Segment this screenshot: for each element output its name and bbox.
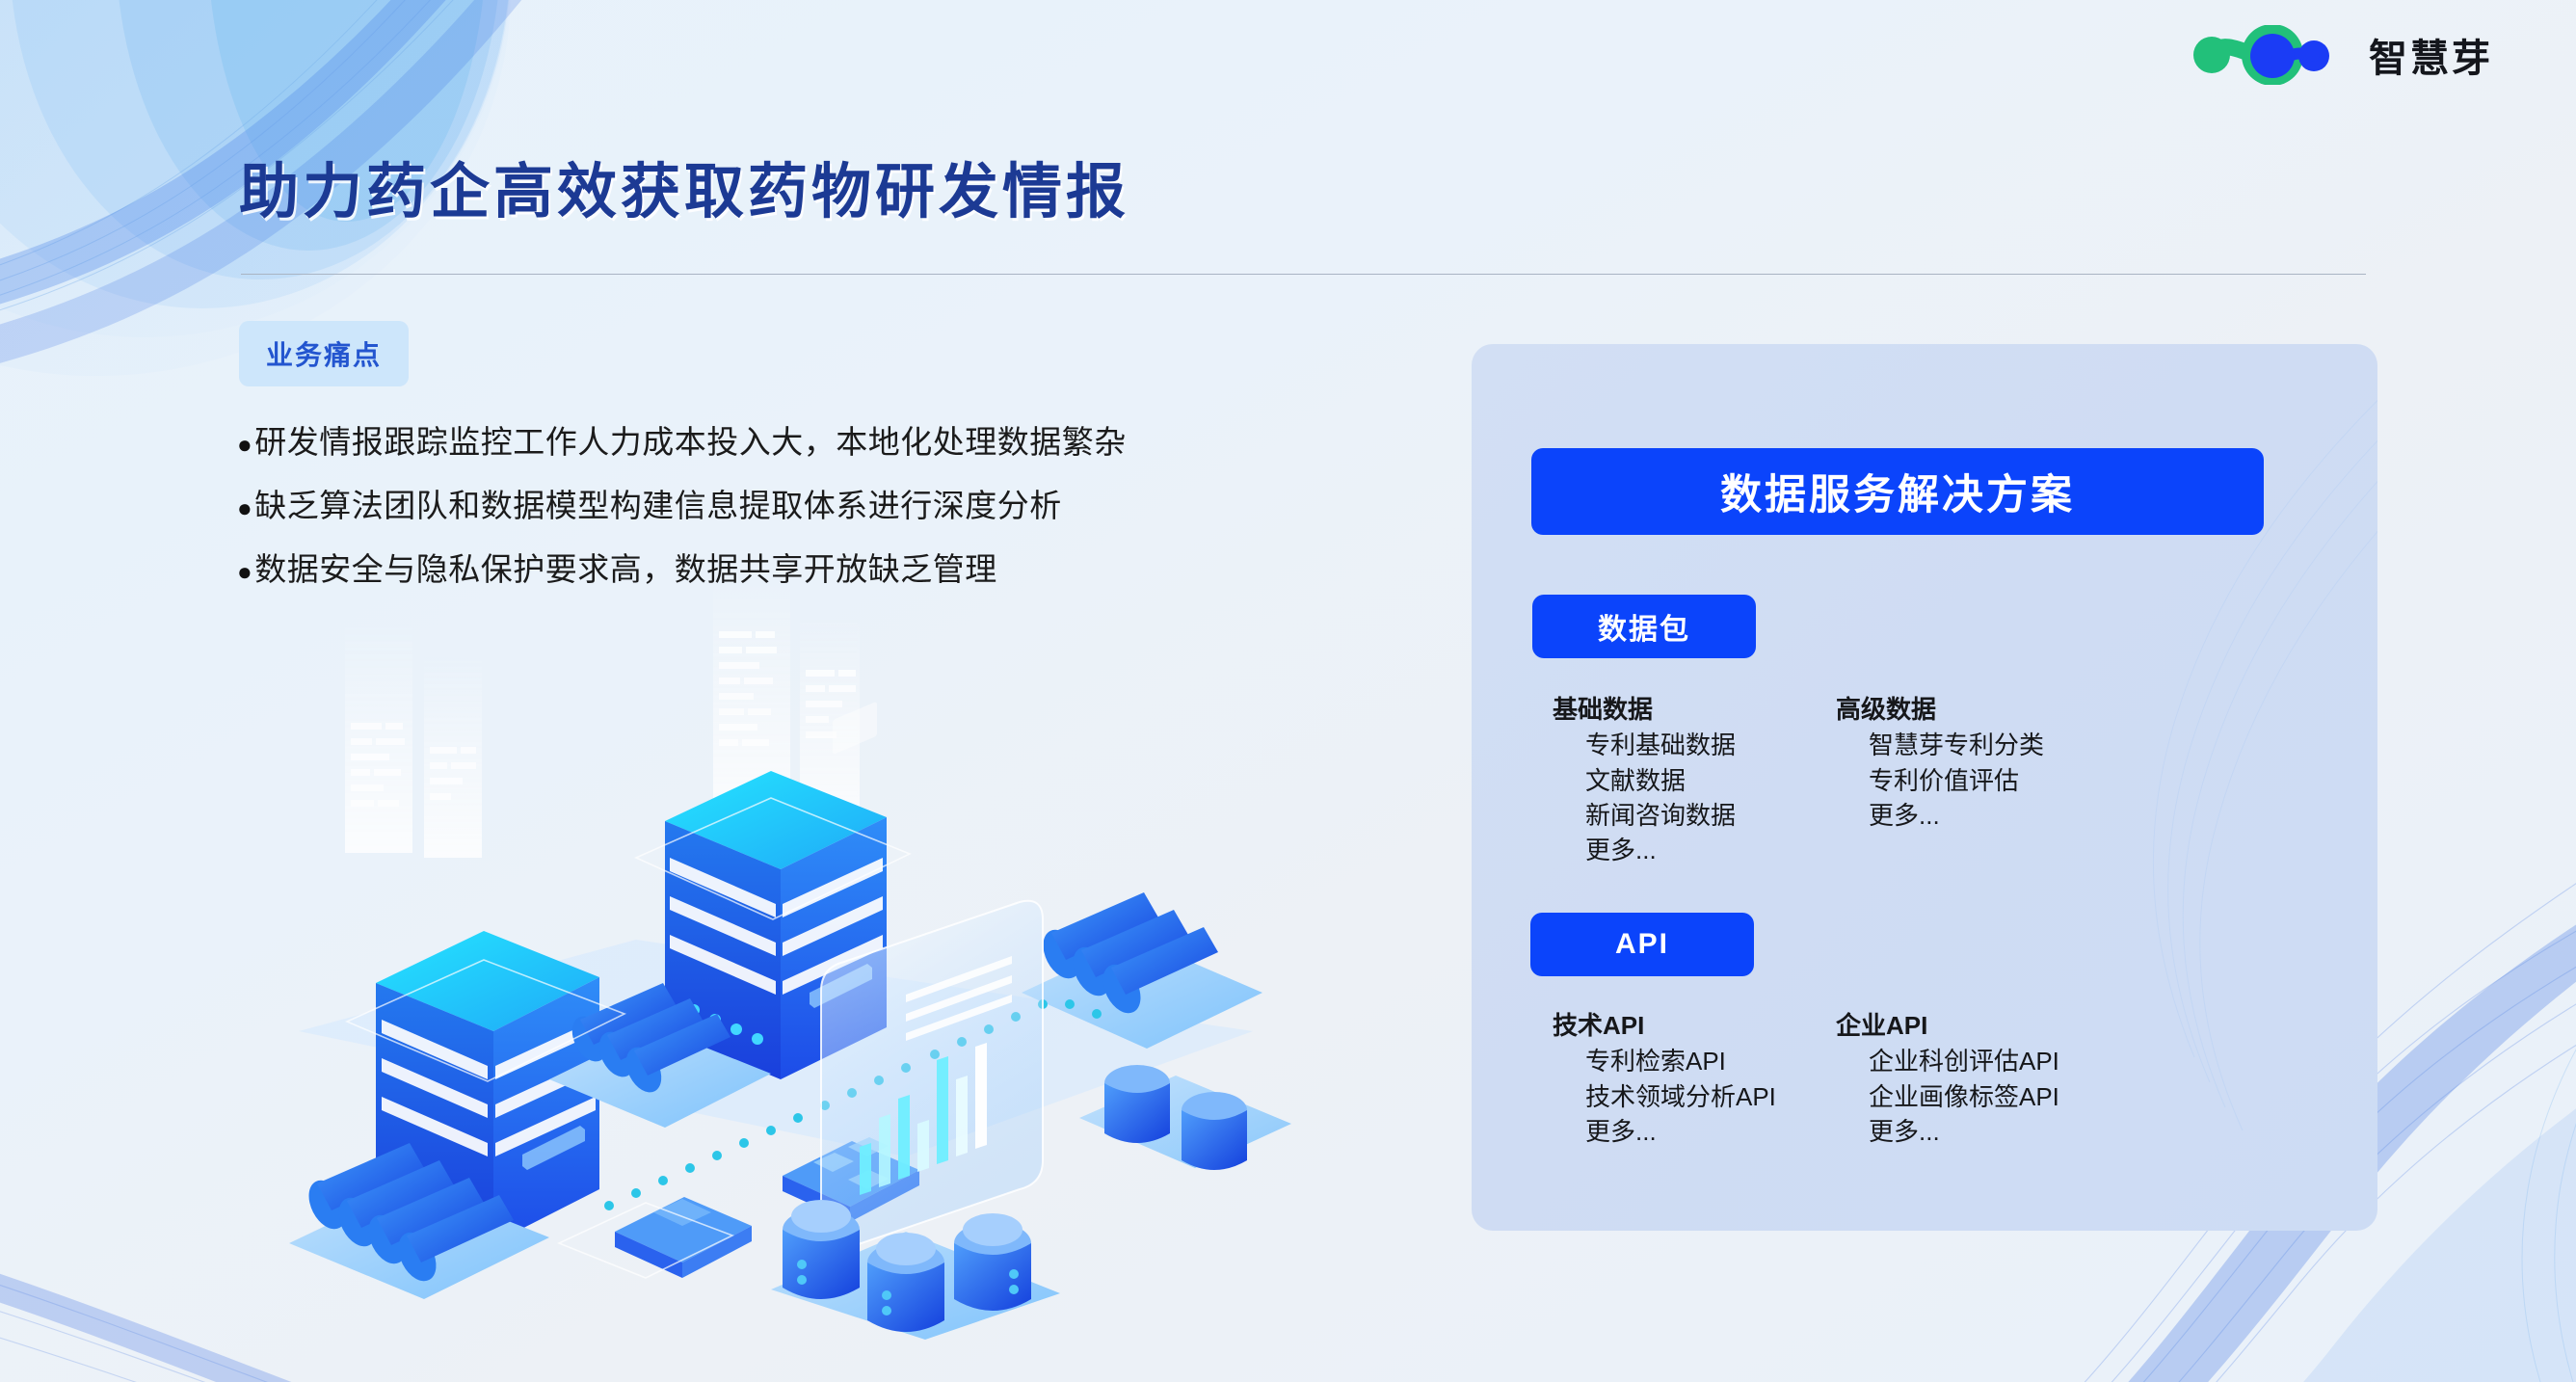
pain-point-item: ● 研发情报跟踪监控工作人力成本投入大，本地化处理数据繁杂 [237,416,1394,463]
column-heading: 企业API [1836,1009,2059,1042]
list-item: 企业科创评估API [1869,1045,2059,1077]
list-item: 新闻咨询数据 [1585,799,1736,832]
list-item: 智慧芽专利分类 [1869,729,2044,761]
column-heading: 高级数据 [1836,693,2044,726]
group-button-datapack[interactable]: 数据包 [1532,595,1756,658]
list-item: 专利检索API [1585,1045,1776,1077]
group-button-datapack-label: 数据包 [1598,605,1690,648]
drug-jars [1079,1065,1291,1170]
bullet-dot-icon: ● [237,432,252,457]
page-title: 助力药企高效获取药物研发情报 [239,143,1129,229]
list-item-more[interactable]: 更多... [1585,1115,1776,1148]
group-button-api-label: API [1615,928,1669,961]
pain-point-text: 缺乏算法团队和数据模型构建信息提取体系进行深度分析 [254,480,1062,526]
list-item: 专利基础数据 [1585,729,1736,761]
column-heading: 技术API [1553,1009,1776,1042]
pain-point-item: ● 缺乏算法团队和数据模型构建信息提取体系进行深度分析 [237,480,1394,526]
solution-panel-title: 数据服务解决方案 [1720,462,2075,521]
title-divider [241,274,2366,275]
bullet-dot-icon: ● [237,495,252,520]
pain-point-badge: 业务痛点 [239,321,409,386]
solution-panel-title-box: 数据服务解决方案 [1531,448,2264,535]
list-item-more[interactable]: 更多... [1869,799,2044,832]
list-item-more[interactable]: 更多... [1869,1115,2059,1148]
list-item: 文献数据 [1585,764,1736,797]
brand-logo: 智慧芽 [2188,25,2493,85]
list-item: 技术领域分析API [1585,1080,1776,1113]
column-enterprise-api: 企业API 企业科创评估API 企业画像标签API 更多... [1836,1009,2059,1150]
column-tech-api: 技术API 专利检索API 技术领域分析API 更多... [1553,1009,1776,1150]
group-button-api[interactable]: API [1530,913,1754,976]
column-advanced-data: 高级数据 智慧芽专利分类 专利价值评估 更多... [1836,693,2044,834]
chip-blocks [615,1197,752,1278]
list-item-more[interactable]: 更多... [1585,834,1736,866]
pain-point-text: 研发情报跟踪监控工作人力成本投入大，本地化处理数据繁杂 [254,416,1127,463]
column-basic-data: 基础数据 专利基础数据 文献数据 新闻咨询数据 更多... [1553,693,1736,869]
slide-canvas: 智慧芽 助力药企高效获取药物研发情报 业务痛点 ● 研发情报跟踪监控工作人力成本… [0,0,2576,1382]
molecule-node-icon [2188,25,2351,85]
column-heading: 基础数据 [1553,693,1736,726]
isometric-data-center-illustration [231,578,1320,1340]
solution-panel: 数据服务解决方案 数据包 基础数据 专利基础数据 文献数据 新闻咨询数据 更多.… [1472,344,2377,1231]
list-item: 专利价值评估 [1869,764,2044,797]
brand-logo-text: 智慧芽 [2369,27,2493,83]
list-item: 企业画像标签API [1869,1080,2059,1113]
pain-point-badge-label: 业务痛点 [266,334,382,373]
